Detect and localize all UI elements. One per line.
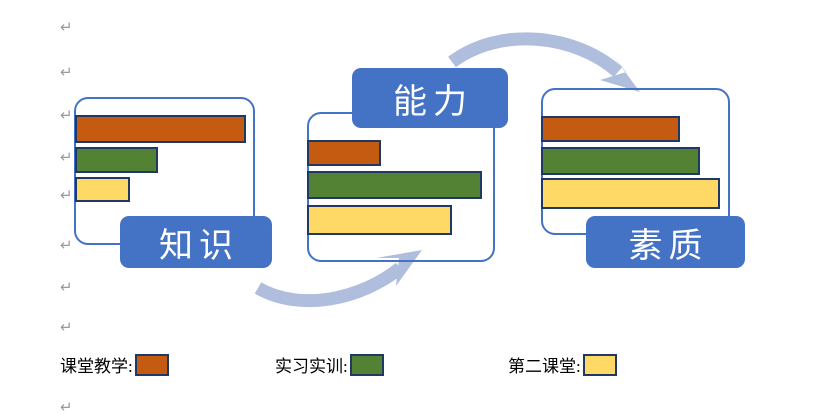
legend-item-2: 实习实训: — [275, 352, 384, 377]
legend-item-1: 课堂教学: — [60, 352, 169, 377]
group-ability-bar-2 — [307, 171, 482, 199]
group-knowledge-bar-3 — [75, 177, 130, 202]
group-knowledge-bar-2 — [75, 147, 158, 173]
legend-item-1-label: 课堂教学: — [60, 352, 133, 377]
pilcrow-6-icon: ↵ — [60, 238, 73, 253]
legend-item-3: 第二课堂: — [508, 352, 617, 377]
diagram-canvas: ↵↵↵↵↵↵↵↵↵ 知识能力素质 课堂教学:实习实训:第二课堂: — [0, 0, 826, 416]
group-ability-bar-1 — [307, 140, 381, 166]
legend-item-2-label: 实习实训: — [275, 352, 348, 377]
legend-item-2-swatch — [350, 354, 384, 376]
pilcrow-2-icon: ↵ — [60, 65, 73, 80]
group-quality-label-tag: 素质 — [586, 216, 745, 268]
pilcrow-7-icon: ↵ — [60, 280, 73, 295]
group-knowledge-bar-1 — [75, 115, 246, 143]
group-ability-bar-3 — [307, 205, 452, 235]
legend-item-1-swatch — [135, 354, 169, 376]
legend-item-3-label: 第二课堂: — [508, 352, 581, 377]
pilcrow-4-icon: ↵ — [60, 150, 73, 165]
pilcrow-5-icon: ↵ — [60, 188, 73, 203]
pilcrow-1-icon: ↵ — [60, 20, 73, 35]
pilcrow-8-icon: ↵ — [60, 320, 73, 335]
group-quality-bar-3 — [541, 178, 720, 209]
group-quality-bar-1 — [541, 116, 680, 142]
pilcrow-3-icon: ↵ — [60, 108, 73, 123]
legend-item-3-swatch — [583, 354, 617, 376]
pilcrow-9-icon: ↵ — [60, 400, 73, 415]
group-knowledge-label-tag: 知识 — [120, 216, 272, 268]
group-ability-label-tag: 能力 — [352, 68, 508, 128]
group-quality-bar-2 — [541, 147, 700, 175]
